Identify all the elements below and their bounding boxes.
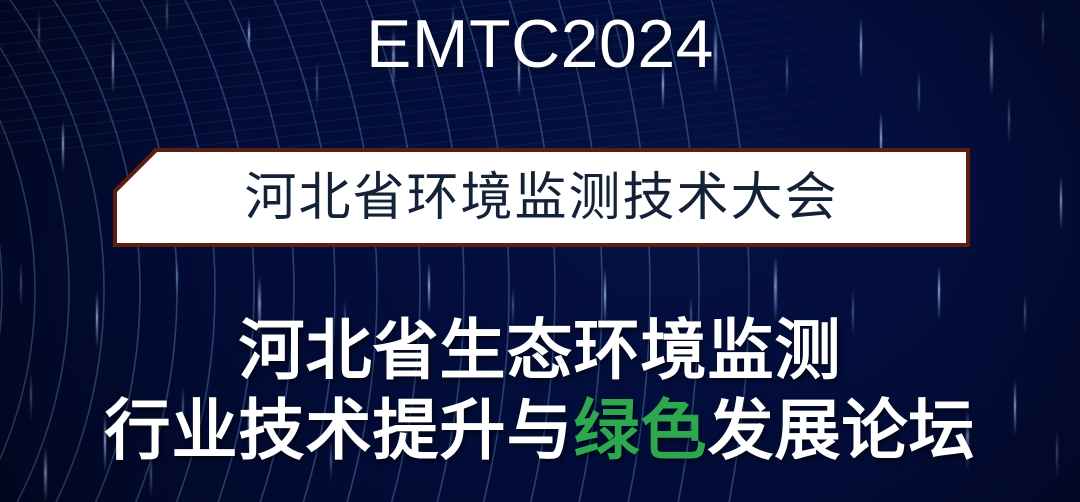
headline-line-2: 行业技术提升与绿色发展论坛: [0, 390, 1080, 470]
headline-line-2-green-emphasis: 绿色: [574, 393, 708, 467]
banner-label: 河北省环境监测技术大会: [244, 170, 838, 226]
forum-headline: 河北省生态环境监测 行业技术提升与绿色发展论坛: [0, 310, 1080, 470]
page-title: EMTC2024: [0, 2, 1080, 86]
headline-line-1: 河北省生态环境监测: [0, 310, 1080, 390]
headline-line-2-part-1: 行业技术提升与: [105, 393, 574, 467]
conference-poster: EMTC2024 河北省环境监测技术大会 河北省生态环境监测 行业技术提升与绿色…: [0, 0, 1080, 502]
conference-name-banner: 河北省环境监测技术大会: [113, 148, 970, 247]
headline-line-2-part-2: 发展论坛: [708, 393, 976, 467]
